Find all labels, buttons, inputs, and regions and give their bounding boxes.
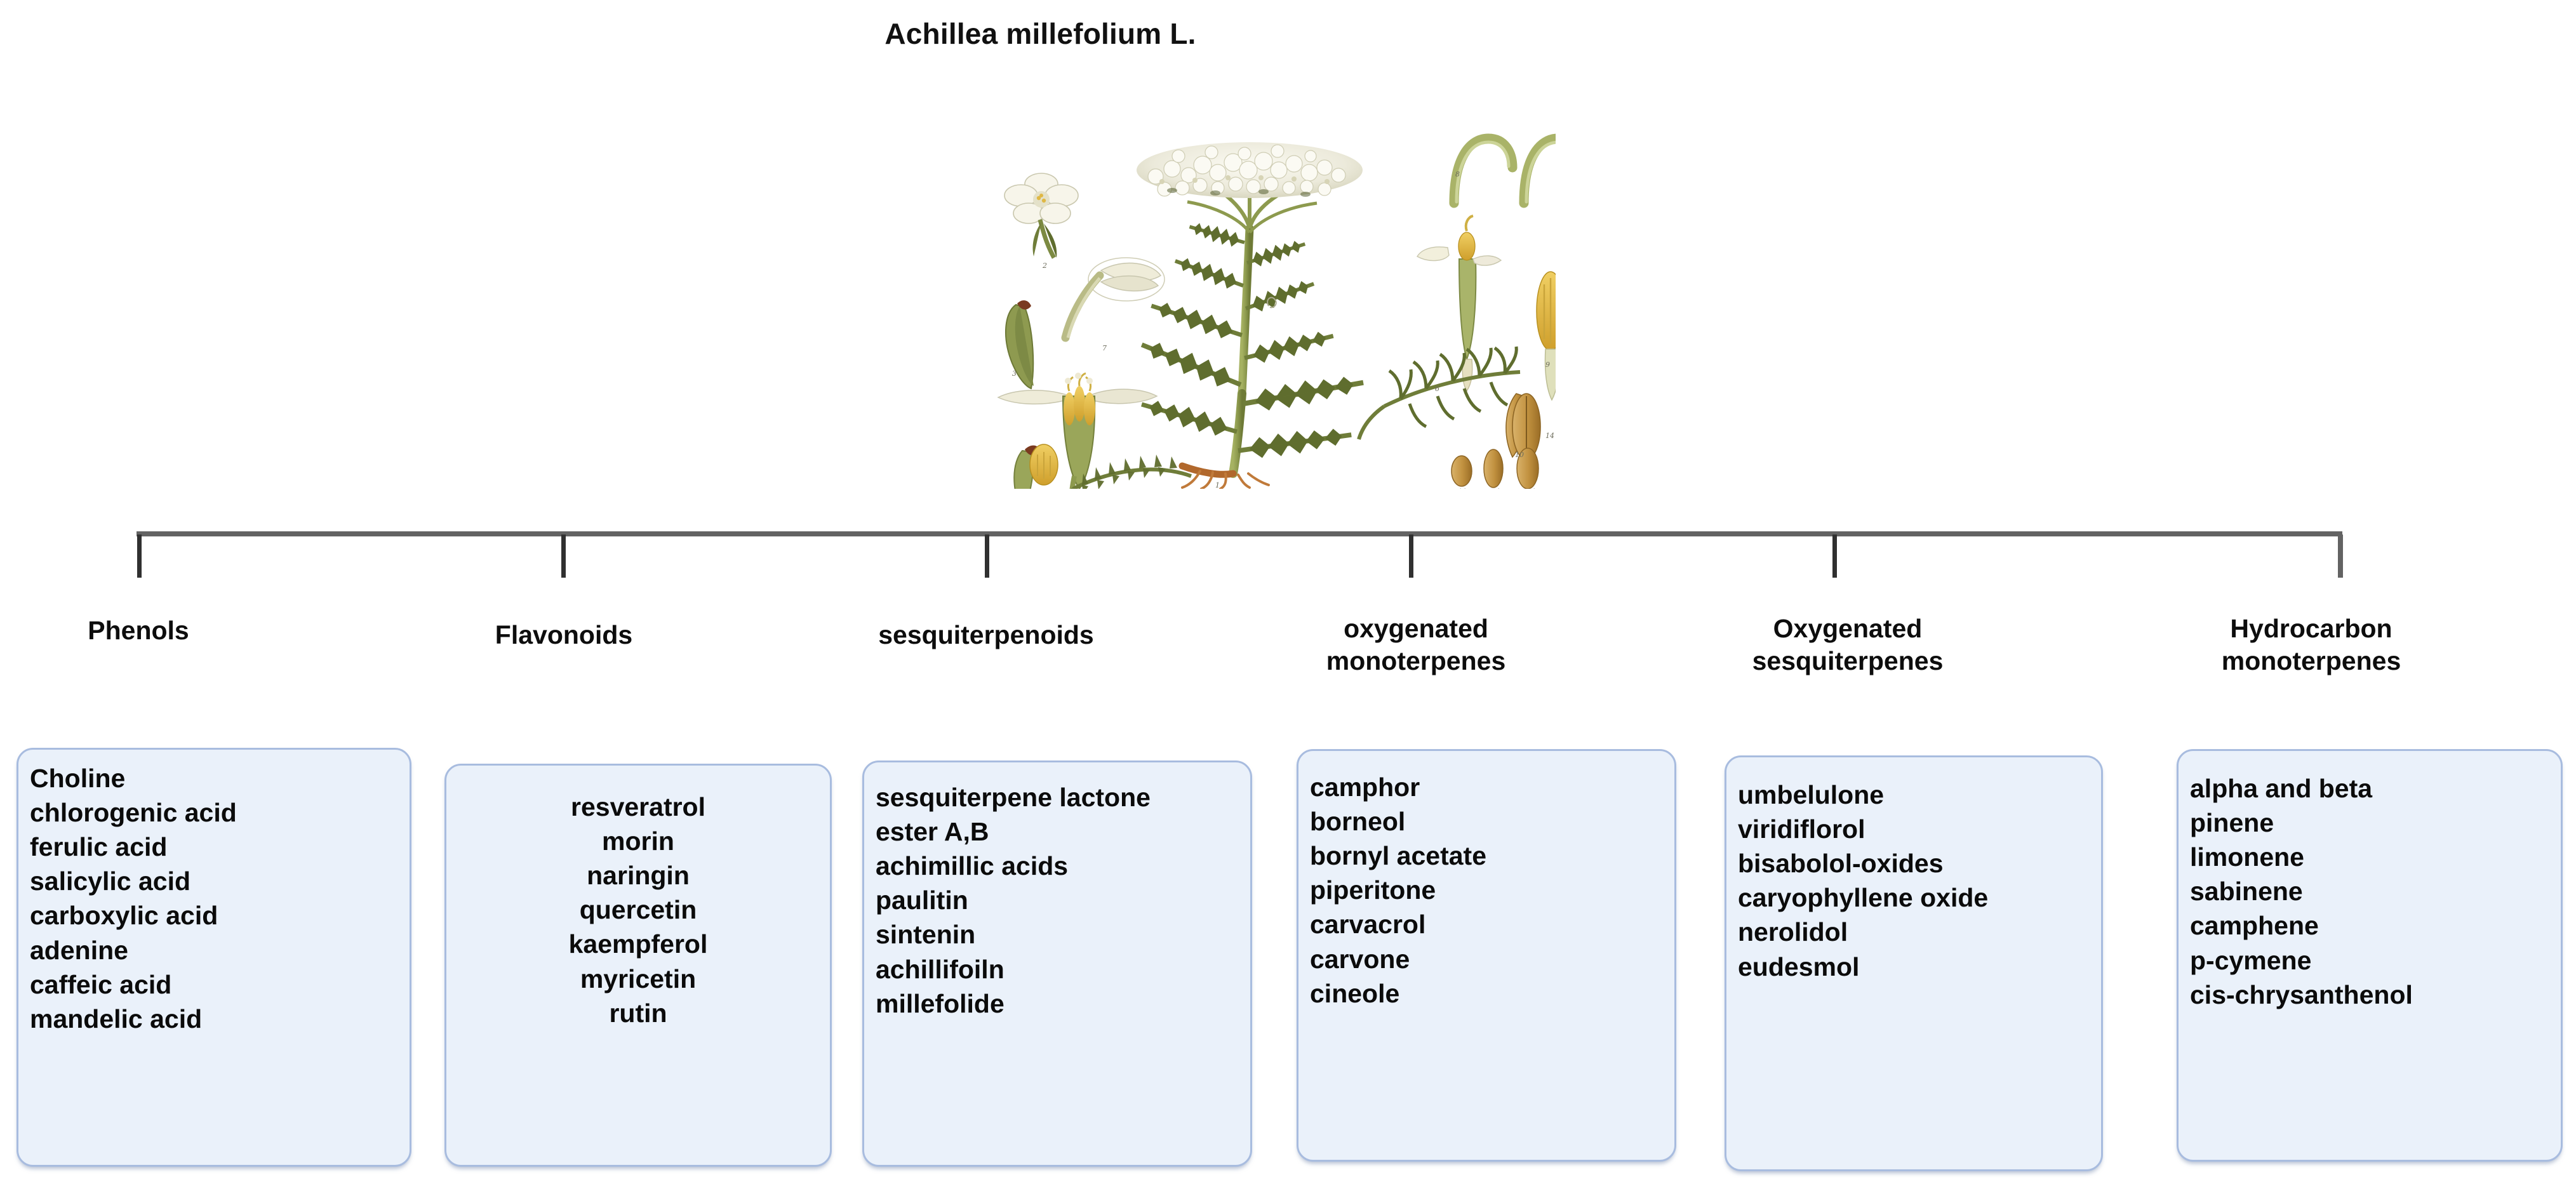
svg-text:13: 13 (1532, 488, 1540, 489)
category-label-sesquiterpenoids: sesquiterpenoids (860, 619, 1112, 651)
compound-item: resveratrol (453, 790, 824, 824)
compound-item: myricetin (453, 962, 824, 996)
compound-item: sabinene (2190, 874, 2554, 908)
compound-item: salicylic acid (30, 864, 403, 898)
compound-item: adenine (30, 933, 403, 967)
svg-text:1: 1 (1215, 481, 1220, 489)
compound-box-oxygenated-monoterpenes: camphor borneol bornyl acetate piperiton… (1297, 749, 1676, 1162)
compound-item: carvone (1310, 942, 1668, 976)
compound-item: ferulic acid (30, 830, 403, 864)
category-label-line2: monoterpenes (1289, 645, 1543, 677)
page-title: Achillea millefolium L. (0, 17, 2576, 51)
svg-text:14: 14 (1545, 432, 1554, 440)
category-label-flavonoids: Flavonoids (438, 619, 690, 651)
compound-item: kaempferol (453, 927, 824, 961)
compound-item: camphor (1310, 770, 1668, 804)
category-label-oxygenated-monoterpenes: oxygenated monoterpenes (1289, 613, 1543, 677)
compound-item: morin (453, 824, 824, 858)
yarrow-botanical-illustration: 23 75 41 86 910 1112 1314 (946, 95, 1556, 489)
compound-item: alpha and beta pinene (2190, 771, 2463, 840)
compound-item: bisabolol-oxides (1738, 846, 2095, 880)
compound-item: nerolidol (1738, 915, 2095, 949)
compound-item: sintenin (876, 917, 1244, 952)
compound-item: naringin (453, 858, 824, 893)
compound-box-phenols: Choline chlorogenic acid ferulic acid sa… (17, 748, 411, 1167)
compound-item: achimillic acids (876, 849, 1244, 883)
svg-text:6: 6 (1435, 385, 1439, 393)
compound-item: rutin (453, 996, 824, 1030)
svg-text:12: 12 (1496, 488, 1505, 489)
compound-item: chlorogenic acid (30, 795, 403, 830)
compound-item: limonene (2190, 840, 2554, 874)
svg-text:11: 11 (1458, 488, 1467, 489)
compound-item: sesquiterpene lactone ester A,B (876, 780, 1180, 849)
compound-item: carvacrol (1310, 907, 1668, 941)
svg-text:2: 2 (1042, 262, 1047, 270)
svg-text:8: 8 (1455, 170, 1460, 178)
compound-item: Choline (30, 761, 403, 795)
compound-item: paulitin (876, 883, 1244, 917)
category-label-line2: monoterpenes (2178, 645, 2445, 677)
page-title-text: Achillea millefolium L. (884, 17, 1196, 51)
compound-item: carboxylic acid (30, 898, 403, 933)
compound-item: umbelulone (1738, 778, 2095, 812)
compound-item: p-cymene (2190, 943, 2554, 978)
compound-box-oxygenated-sesquiterpenes: umbelulone viridiflorol bisabolol-oxides… (1725, 755, 2103, 1171)
compound-box-flavonoids: resveratrol morin naringin quercetin kae… (444, 764, 832, 1167)
svg-text:7: 7 (1102, 344, 1107, 352)
category-label-line1: Oxygenated (1714, 613, 1981, 645)
compound-item: piperitone (1310, 873, 1668, 907)
hierarchy-bracket (0, 508, 2576, 603)
category-label-line1: oxygenated (1289, 613, 1543, 645)
svg-text:3: 3 (1012, 369, 1017, 378)
svg-text:10: 10 (1515, 451, 1524, 459)
compound-item: borneol (1310, 804, 1668, 839)
category-label-line2: sesquiterpenes (1714, 645, 1981, 677)
category-label-line1: Hydrocarbon (2178, 613, 2445, 645)
category-label-oxygenated-sesquiterpenes: Oxygenated sesquiterpenes (1714, 613, 1981, 677)
compound-item: camphene (2190, 908, 2554, 943)
svg-text:9: 9 (1545, 361, 1550, 369)
compound-item: quercetin (453, 893, 824, 927)
category-label-phenols: Phenols (13, 614, 264, 647)
compound-box-sesquiterpenoids: sesquiterpene lactone ester A,B achimill… (862, 761, 1252, 1167)
compound-item: bornyl acetate (1310, 839, 1668, 873)
category-label-hydrocarbon-monoterpenes: Hydrocarbon monoterpenes (2178, 613, 2445, 677)
compound-item: caryophyllene oxide (1738, 880, 1992, 915)
compound-item: cis-chrysanthenol (2190, 978, 2554, 1012)
compound-item: achillifoiln (876, 952, 1244, 986)
compound-item: millefolide (876, 986, 1244, 1021)
compound-box-hydrocarbon-monoterpenes: alpha and beta pinene limonene sabinene … (2177, 749, 2563, 1162)
compound-item: eudesmol (1738, 950, 2095, 984)
compound-item: viridiflorol (1738, 812, 2095, 846)
compound-item: caffeic acid (30, 967, 403, 1002)
compound-item: mandelic acid (30, 1002, 403, 1036)
compound-item: cineole (1310, 976, 1668, 1011)
